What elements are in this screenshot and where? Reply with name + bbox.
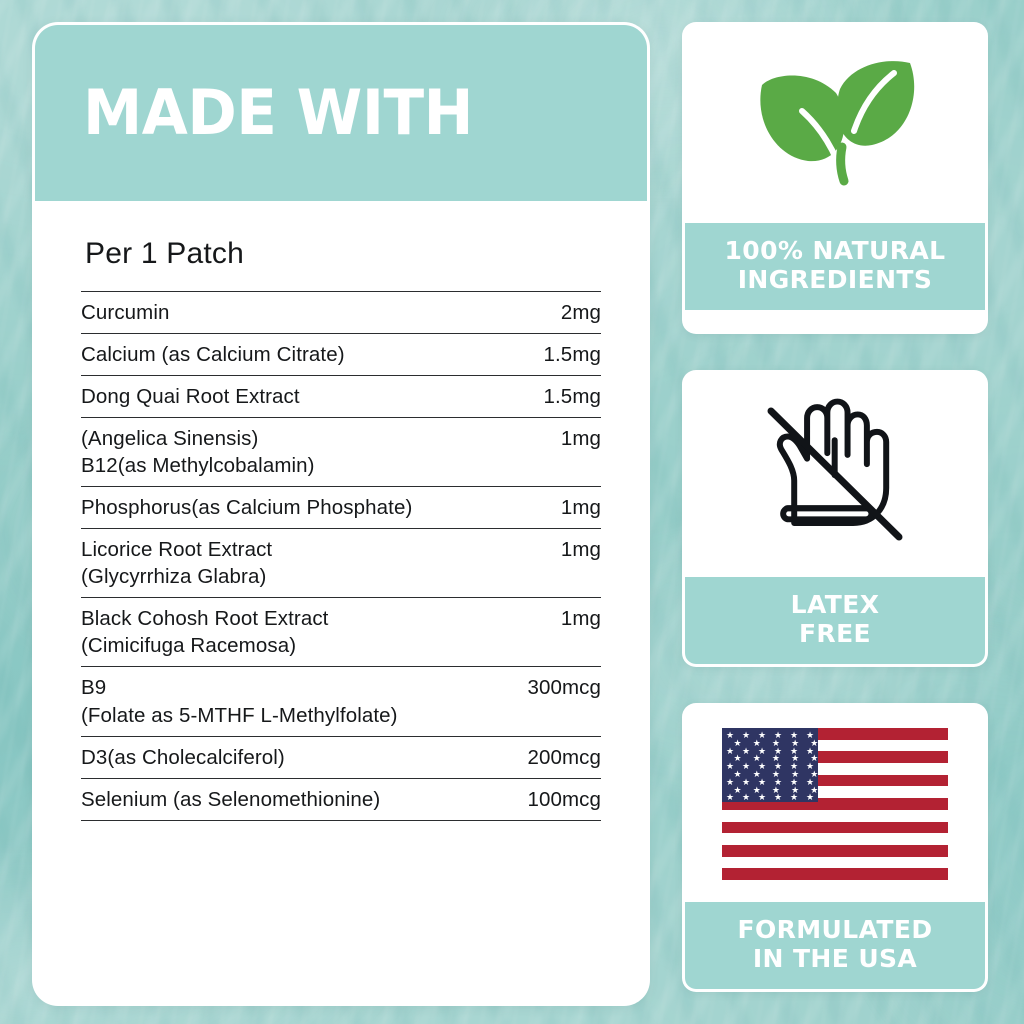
badge-label: LATEX FREE (685, 577, 985, 664)
badge-artwork (685, 373, 985, 577)
ingredient-amount: 300mcg (483, 667, 601, 736)
ingredient-name: Black Cohosh Root Extract (81, 607, 328, 630)
badge-label: FORMULATED IN THE USA (685, 902, 985, 989)
badge-natural-ingredients: 100% NATURAL INGREDIENTS (682, 22, 988, 334)
flag-star: ★ (806, 793, 814, 802)
flag-stripe (722, 845, 948, 857)
table-row: Phosphorus(as Calcium Phosphate)1mg (81, 487, 601, 529)
ingredient-name-cell: Curcumin (81, 292, 483, 334)
table-row: (Angelica Sinensis)B12(as Methylcobalami… (81, 418, 601, 487)
no-latex-glove-icon (749, 389, 921, 561)
serving-size-label: Per 1 Patch (85, 237, 601, 271)
flag-star: ★ (742, 793, 750, 802)
flag-stripe (722, 822, 948, 834)
ingredient-name-cell: B9(Folate as 5-MTHF L-Methylfolate) (81, 667, 483, 736)
ingredient-subname: (Folate as 5-MTHF L-Methylfolate) (81, 702, 483, 729)
panel-body: Per 1 Patch Curcumin2mgCalcium (as Calci… (35, 201, 647, 821)
flag-star: ★ (774, 793, 782, 802)
table-row: Calcium (as Calcium Citrate)1.5mg (81, 334, 601, 376)
ingredient-name: Phosphorus(as Calcium Phosphate) (81, 496, 412, 519)
flag-star-row: ★★★★★★ (722, 793, 818, 802)
ingredient-name-cell: Licorice Root Extract(Glycyrrhiza Glabra… (81, 529, 483, 598)
badge-label-line2: FREE (693, 620, 977, 649)
ingredient-name: B9 (81, 676, 106, 699)
ingredient-subname: (Glycyrrhiza Glabra) (81, 563, 483, 590)
badge-latex-free: LATEX FREE (682, 370, 988, 667)
ingredient-name: Dong Quai Root Extract (81, 385, 300, 408)
ingredient-name: D3(as Cholecalciferol) (81, 746, 285, 769)
flag-star: ★ (726, 793, 734, 802)
badge-artwork: ★★★★★★★★★★★★★★★★★★★★★★★★★★★★★★★★★★★★★★★★… (685, 706, 985, 902)
ingredient-name: Calcium (as Calcium Citrate) (81, 343, 345, 366)
flag-star: ★ (758, 793, 766, 802)
badge-label: 100% NATURAL INGREDIENTS (685, 223, 985, 310)
badge-label-line1: LATEX (791, 590, 880, 619)
ingredient-name-cell: Phosphorus(as Calcium Phosphate) (81, 487, 483, 529)
badge-label-line2: IN THE USA (693, 945, 977, 974)
ingredient-name: Curcumin (81, 301, 170, 324)
ingredients-table: Curcumin2mgCalcium (as Calcium Citrate)1… (81, 291, 601, 821)
ingredient-amount: 1.5mg (483, 334, 601, 376)
usa-flag-icon: ★★★★★★★★★★★★★★★★★★★★★★★★★★★★★★★★★★★★★★★★… (722, 728, 948, 880)
ingredient-amount: 1mg (483, 487, 601, 529)
badge-column: 100% NATURAL INGREDIENTS LATEX FRE (682, 22, 988, 1024)
ingredient-name-cell: Black Cohosh Root Extract(Cimicifuga Rac… (81, 598, 483, 667)
ingredient-amount: 2mg (483, 292, 601, 334)
flag-stripe (722, 868, 948, 880)
table-row: Dong Quai Root Extract1.5mg (81, 376, 601, 418)
table-row: D3(as Cholecalciferol)200mcg (81, 736, 601, 778)
ingredient-subname: (Cimicifuga Racemosa) (81, 632, 483, 659)
table-row: Black Cohosh Root Extract(Cimicifuga Rac… (81, 598, 601, 667)
flag-canton: ★★★★★★★★★★★★★★★★★★★★★★★★★★★★★★★★★★★★★★★★… (722, 728, 818, 802)
infographic-stage: MADE WITH Per 1 Patch Curcumin2mgCalcium… (0, 0, 1024, 1024)
ingredient-amount: 200mcg (483, 736, 601, 778)
ingredient-amount: 1.5mg (483, 376, 601, 418)
leaves-icon (740, 49, 930, 199)
ingredient-name-cell: (Angelica Sinensis)B12(as Methylcobalami… (81, 418, 483, 487)
badge-formulated-usa: ★★★★★★★★★★★★★★★★★★★★★★★★★★★★★★★★★★★★★★★★… (682, 703, 988, 992)
badge-label-line1: FORMULATED (738, 915, 933, 944)
ingredient-amount: 1mg (483, 529, 601, 598)
page-title: MADE WITH (83, 82, 473, 144)
badge-artwork (685, 25, 985, 223)
ingredient-name-cell: Selenium (as Selenomethionine) (81, 778, 483, 820)
ingredient-subname: B12(as Methylcobalamin) (81, 452, 483, 479)
flag-star: ★ (790, 793, 798, 802)
badge-label-line2: INGREDIENTS (693, 266, 977, 295)
ingredient-name: (Angelica Sinensis) (81, 427, 258, 450)
table-row: Licorice Root Extract(Glycyrrhiza Glabra… (81, 529, 601, 598)
ingredient-amount: 100mcg (483, 778, 601, 820)
table-row: Curcumin2mg (81, 292, 601, 334)
ingredient-name: Selenium (as Selenomethionine) (81, 788, 380, 811)
made-with-panel: MADE WITH Per 1 Patch Curcumin2mgCalcium… (32, 22, 650, 1006)
ingredient-amount: 1mg (483, 598, 601, 667)
table-row: Selenium (as Selenomethionine)100mcg (81, 778, 601, 820)
badge-label-line1: 100% NATURAL (725, 236, 946, 265)
ingredient-name: Licorice Root Extract (81, 538, 272, 561)
ingredient-name-cell: Calcium (as Calcium Citrate) (81, 334, 483, 376)
ingredient-amount: 1mg (483, 418, 601, 487)
panel-header: MADE WITH (35, 25, 647, 201)
ingredient-name-cell: Dong Quai Root Extract (81, 376, 483, 418)
table-row: B9(Folate as 5-MTHF L-Methylfolate)300mc… (81, 667, 601, 736)
ingredient-name-cell: D3(as Cholecalciferol) (81, 736, 483, 778)
